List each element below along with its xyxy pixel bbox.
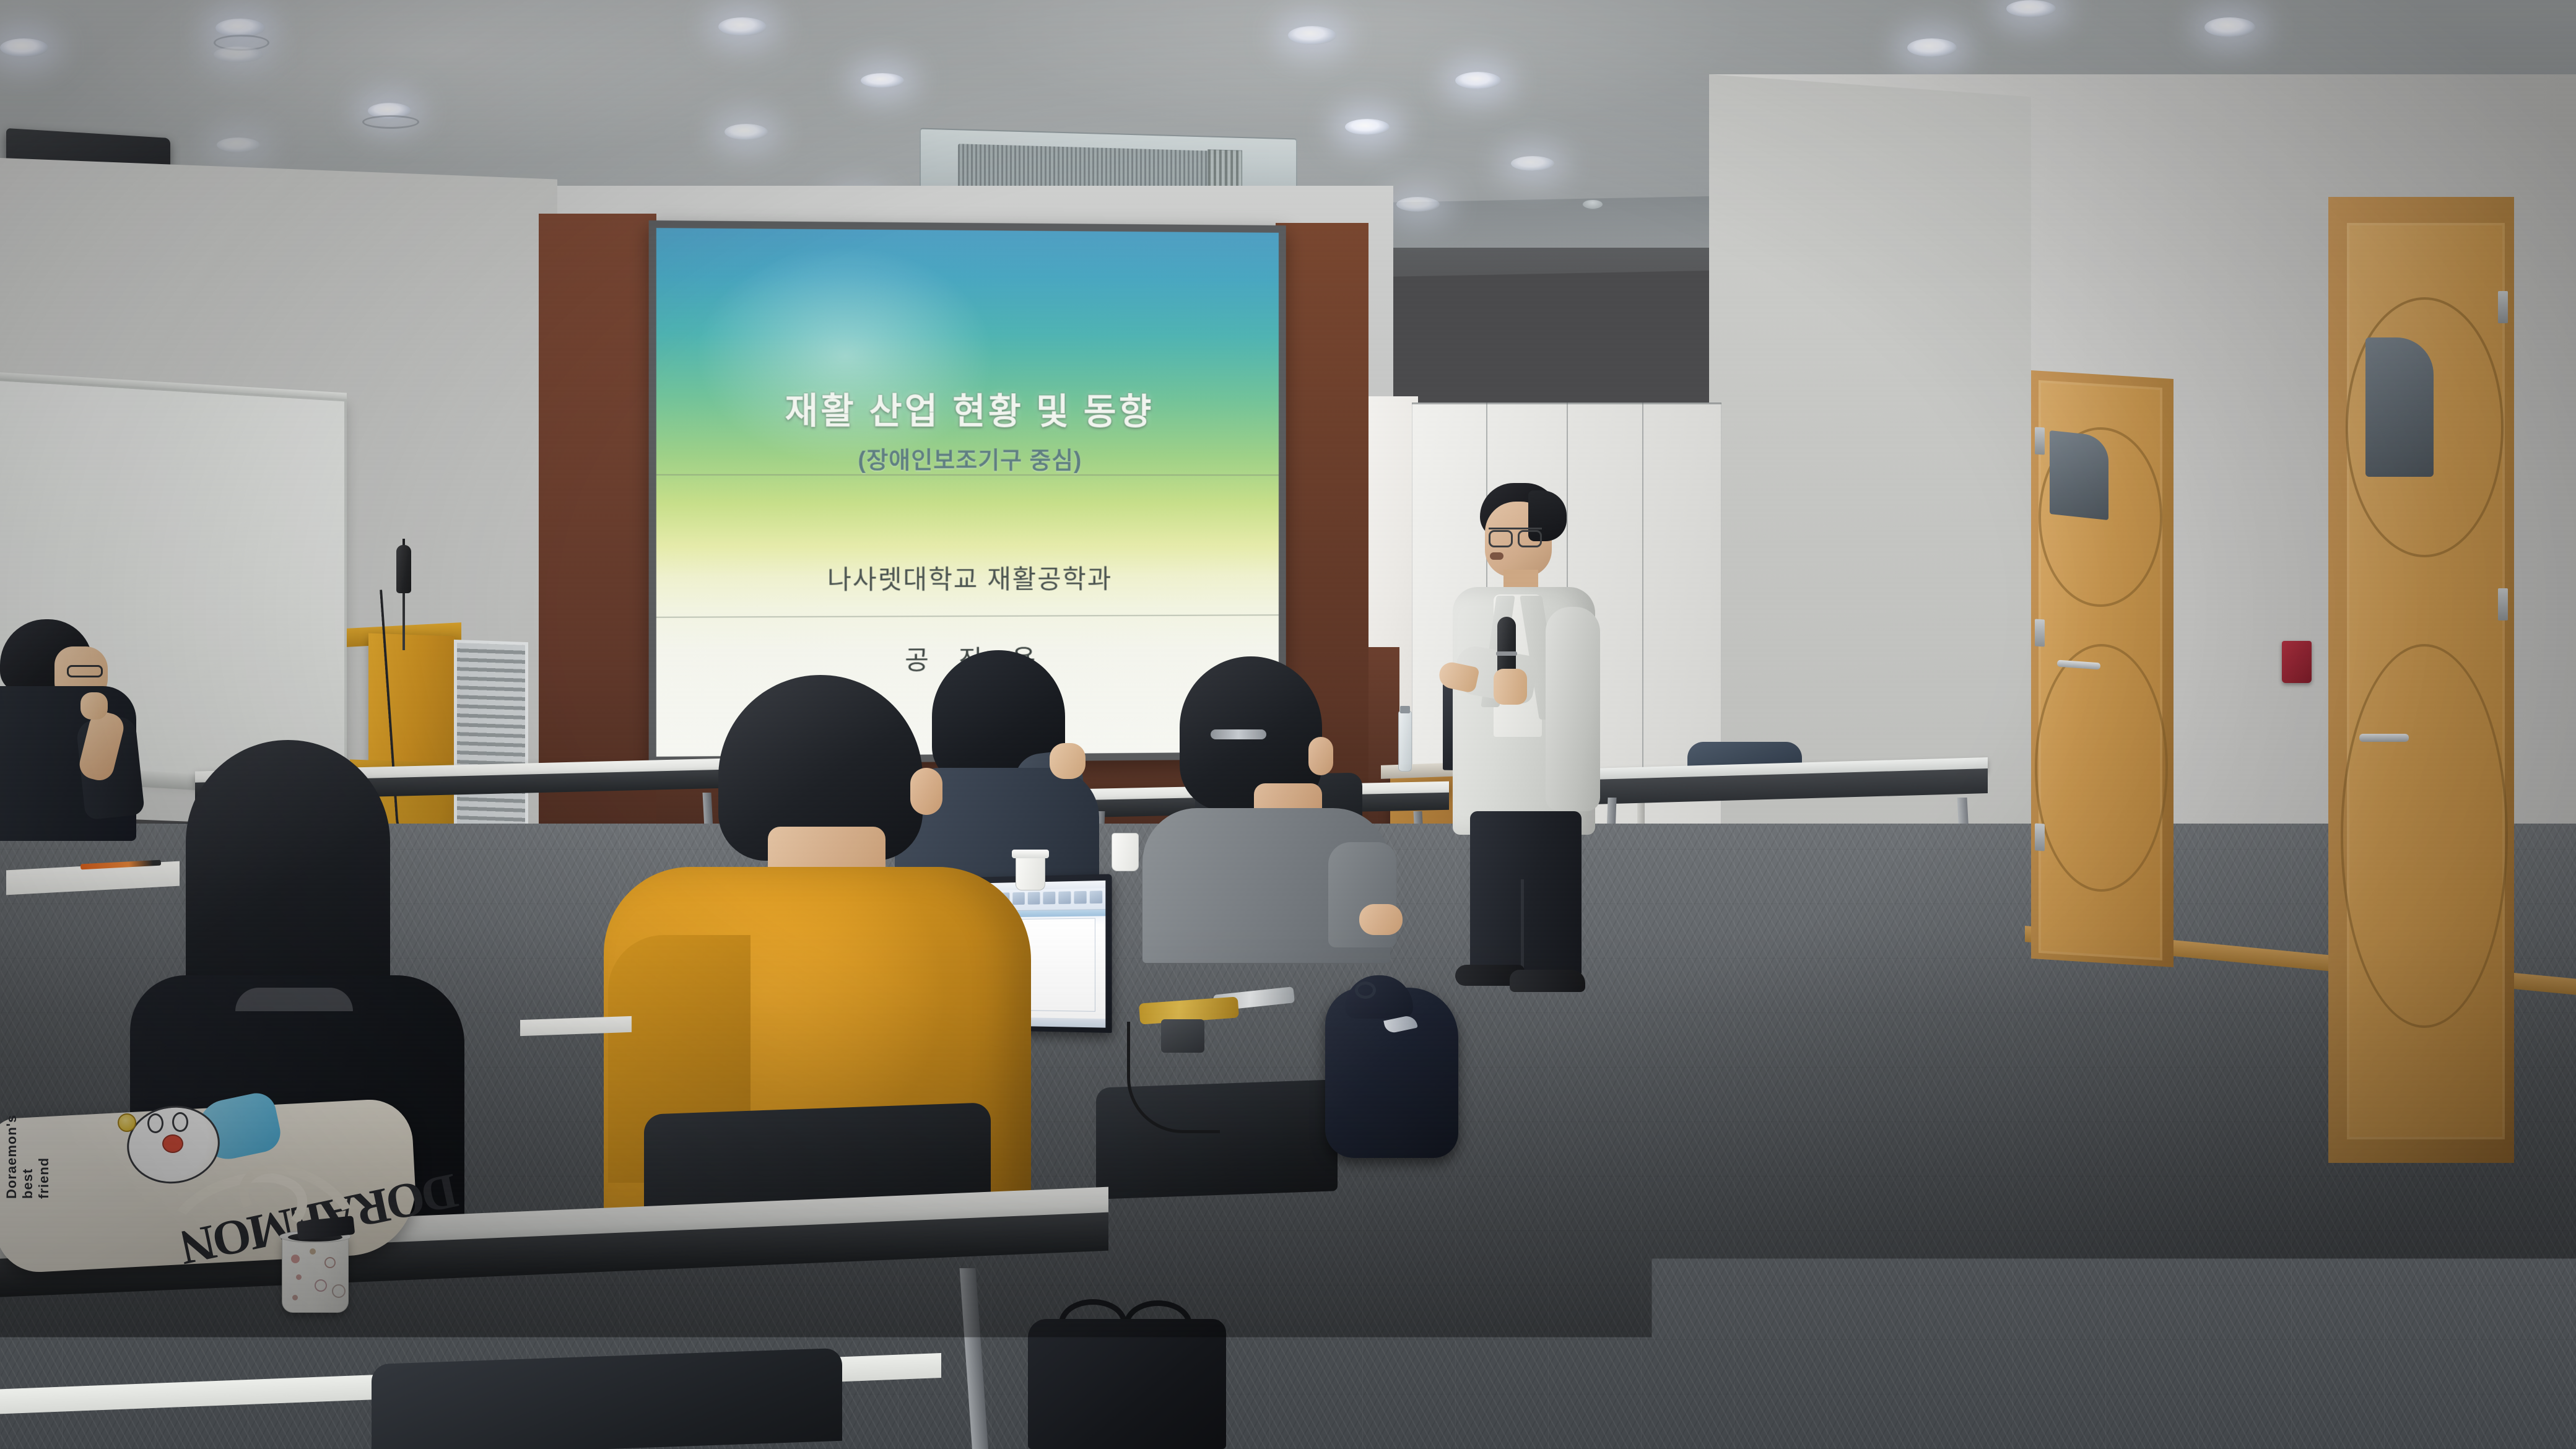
lecture-hall-photo: 재활 산업 현황 및 동향 (장애인보조기구 중심) 나사렛대학교 재활공학과 … [0,0,2576,1449]
slide-title: 재활 산업 현황 및 동향 [656,381,1279,434]
fire-alarm-icon[interactable] [2282,641,2312,683]
cup-dot [292,1295,298,1300]
smoke-detector-icon [1582,199,1603,209]
ceiling-light-icon [724,124,768,140]
presenter-hand [1494,669,1527,705]
backpack-icon[interactable] [1325,969,1464,1161]
doraemon-bell-icon [118,1113,136,1132]
cup-icon[interactable] [1112,833,1139,871]
black-bag[interactable] [1028,1319,1226,1449]
backpack-top [1345,975,1413,1019]
doraemon-eye-icon [172,1112,188,1132]
ceiling-light-icon [214,46,263,63]
student-ear [1308,737,1333,775]
bottle-cap [1400,706,1410,713]
door-handle[interactable] [2359,734,2409,742]
presenter-mouth [1490,552,1503,560]
student-hand [1359,904,1403,935]
trouser-seam [1521,879,1524,972]
ceiling-light-icon [718,17,767,36]
door-hinge [2498,588,2508,620]
ceiling-light-icon [1345,119,1390,135]
slide-subtitle: (장애인보조기구 중심) [656,440,1279,475]
presenter [1437,483,1647,997]
presenter-trousers [1470,811,1582,976]
student-ear [910,768,942,815]
cup-body [282,1235,349,1313]
microphone-icon[interactable] [396,545,411,593]
tote-bag-icon[interactable]: Doraemon's best friend DORAEMON [0,1096,427,1282]
ceiling-light-icon [2006,0,2056,17]
student-gray-top [1149,656,1384,916]
tote-bag-text: Doraemon's best friend [4,1125,78,1199]
ceiling-light-icon [1511,156,1554,171]
cup-dot [296,1274,302,1280]
cup-dot [310,1248,316,1255]
chair-backrest[interactable] [372,1348,842,1449]
cup-dot [324,1257,336,1268]
ceiling-light-icon [861,73,904,88]
door-hinge [2498,291,2508,323]
presenter-arm [1546,607,1600,811]
microphone-band [1496,651,1517,656]
ceiling-light-icon [1288,26,1336,45]
presenter-shoe [1510,970,1585,992]
doraemon-eye-icon [147,1113,163,1133]
slide-divider [656,614,1279,618]
cup-dot [315,1279,327,1292]
cup-dot [332,1284,346,1298]
ceiling-light-icon [2204,17,2255,37]
doraemon-nose-icon [162,1134,183,1153]
cup-dot [291,1255,300,1263]
ceiling-light-icon [1907,38,1957,57]
door-window [2050,430,2108,520]
door-panel-arc [2341,644,2508,1028]
door-hinge [2035,619,2045,647]
slide-department: 나사렛대학교 재활공학과 [656,558,1279,598]
ceiling-light-icon [1396,197,1440,212]
glasses-icon [67,665,103,677]
ceiling-light-icon [217,137,260,152]
ceiling-light-icon [0,38,48,57]
hair-clip-icon [1211,729,1266,739]
cup-icon[interactable] [282,1229,349,1313]
bottle-icon[interactable] [1398,711,1412,772]
door-panel-arc [2035,644,2168,892]
glasses-icon [1489,528,1542,542]
door-hinge [2035,824,2045,851]
door-hinge [2035,427,2045,455]
student-collar [235,988,353,1011]
backpack-ring [1355,981,1376,999]
panel-top-edge [1412,402,1721,404]
ceiling-light-icon [1455,72,1501,89]
student-hand [80,692,108,720]
ceiling-light-icon [362,115,419,129]
door-window [2365,337,2434,477]
